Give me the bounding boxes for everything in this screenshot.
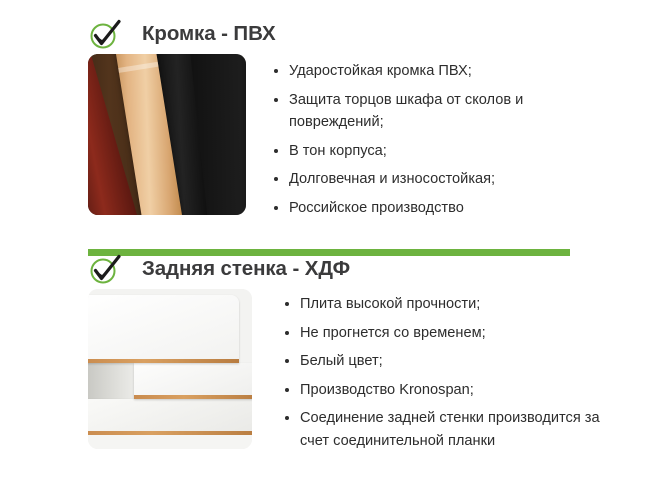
product-features-page: Кромка - ПВХ Ударостойкая кромка ПВХ; [0, 0, 652, 500]
bullet-dot-icon [274, 149, 278, 153]
list-item: Соединение задней стенки производится за… [283, 407, 613, 452]
feature-list: Ударостойкая кромка ПВХ; Защита торцов ш… [272, 60, 602, 220]
feature-section-hdf-back-panel: Задняя стенка - ХДФ [0, 249, 652, 459]
bullet-dot-icon [274, 98, 278, 102]
green-check-circle-icon [88, 253, 122, 285]
list-item-text: Долговечная и износостойкая; [289, 171, 495, 187]
list-item-text: Российское производство [289, 200, 464, 216]
list-item-text: Производство Kronospan; [300, 382, 474, 398]
section-title: Кромка - ПВХ [142, 24, 276, 45]
list-item: Не прогнется со временем; [283, 322, 613, 345]
list-item-text: Не прогнется со временем; [300, 325, 486, 341]
bullet-dot-icon [285, 388, 289, 392]
bullet-dot-icon [285, 331, 289, 335]
pvc-edge-band-photo [88, 54, 246, 215]
list-item: Белый цвет; [283, 350, 613, 373]
list-item: Долговечная и износостойкая; [272, 168, 602, 191]
bullet-dot-icon [285, 416, 289, 420]
list-item-text: В тон корпуса; [289, 143, 387, 159]
list-item-text: Белый цвет; [300, 353, 383, 369]
list-item: Производство Kronospan; [283, 379, 613, 402]
list-item-text: Ударостойкая кромка ПВХ; [289, 63, 472, 79]
green-check-circle-icon [88, 18, 122, 50]
section-title: Задняя стенка - ХДФ [142, 259, 350, 280]
list-item-text: Защита торцов шкафа от сколов и поврежде… [289, 92, 523, 131]
hdf-photo-art [88, 289, 252, 449]
list-item: Плита высокой прочности; [283, 293, 613, 316]
hdf-panel-edge [88, 359, 239, 363]
hdf-panel-middle [134, 363, 252, 400]
bullet-dot-icon [274, 69, 278, 73]
section-header: Кромка - ПВХ [0, 14, 652, 54]
hdf-panel-edge [134, 395, 252, 399]
list-item-text: Соединение задней стенки производится за… [300, 410, 600, 449]
list-item-text: Плита высокой прочности; [300, 296, 480, 312]
hdf-base-surface [88, 435, 252, 449]
hdf-panel-bottom [88, 399, 252, 434]
bullet-dot-icon [274, 177, 278, 181]
list-item: Ударостойкая кромка ПВХ; [272, 60, 602, 83]
hdf-panel-top [88, 295, 239, 362]
section-body: Плита высокой прочности; Не прогнется со… [0, 289, 652, 459]
section-header: Задняя стенка - ХДФ [0, 249, 652, 289]
list-item: В тон корпуса; [272, 140, 602, 163]
bullet-dot-icon [285, 302, 289, 306]
feature-list: Плита высокой прочности; Не прогнется со… [283, 293, 613, 453]
hdf-shadow [88, 363, 137, 403]
hdf-back-panel-photo [88, 289, 252, 449]
list-item: Защита торцов шкафа от сколов и поврежде… [272, 89, 602, 134]
bullet-dot-icon [274, 206, 278, 210]
section-body: Ударостойкая кромка ПВХ; Защита торцов ш… [0, 54, 652, 222]
list-item: Российское производство [272, 197, 602, 220]
bullet-dot-icon [285, 359, 289, 363]
pvc-photo-art [88, 54, 246, 215]
feature-section-pvc-edge: Кромка - ПВХ Ударостойкая кромка ПВХ; [0, 14, 652, 222]
